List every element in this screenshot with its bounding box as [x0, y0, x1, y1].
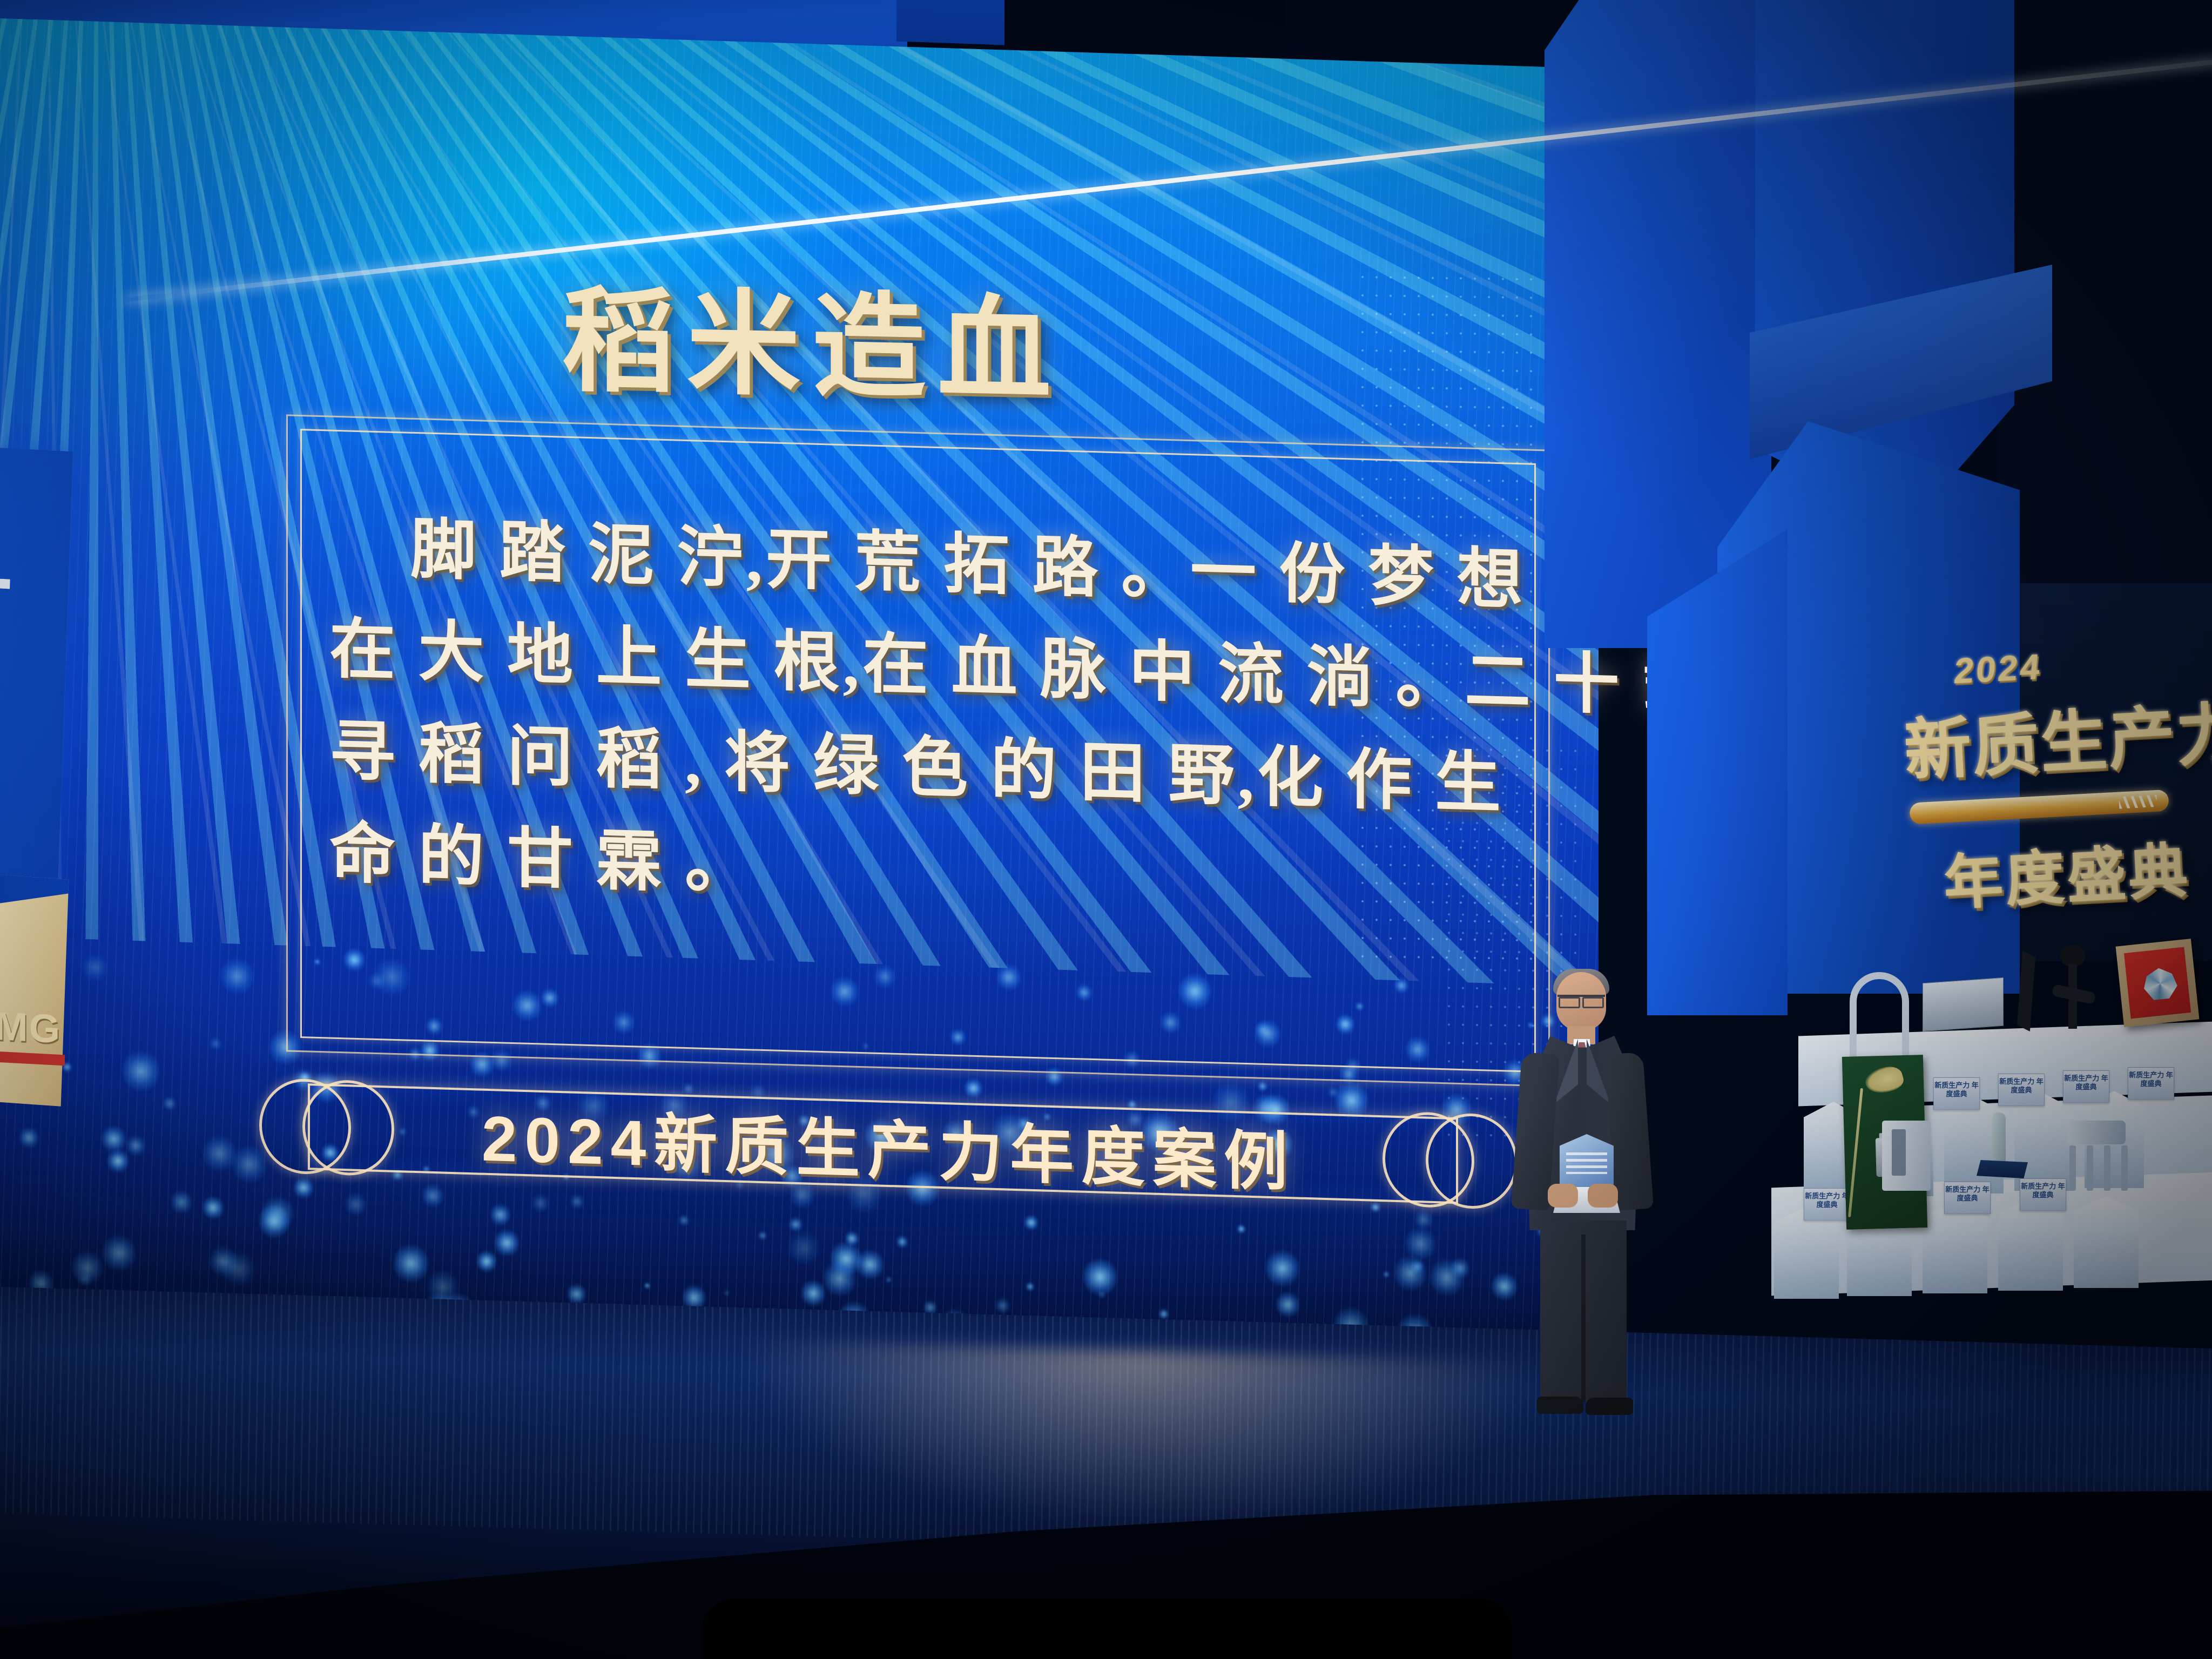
exhibit-plinth	[1998, 1199, 2063, 1291]
bokeh-particle	[896, 1235, 907, 1249]
bokeh-particle	[1405, 1224, 1435, 1263]
signage-main-title: 新质生产力	[1901, 678, 2212, 793]
bokeh-particle	[394, 1242, 428, 1285]
bokeh-particle	[477, 1249, 496, 1273]
equipment-box	[1923, 977, 2004, 1031]
hook-arc-fixture	[1850, 972, 1909, 1058]
trophy-engraving	[1566, 1152, 1607, 1174]
exhibit-tag: 新质生产力 年度盛典	[2128, 1067, 2174, 1100]
bokeh-particle	[1159, 1307, 1169, 1320]
robotic-arm-joint	[2060, 945, 2085, 967]
bokeh-particle	[490, 1202, 510, 1228]
exhibit-microscope	[1977, 1112, 2028, 1191]
quote-text-block: 脚 踏 泥 泞,开 荒 拓 路 。一 份 梦 想 在 大 地 上 生 根,在 血…	[329, 496, 1518, 938]
signage-year: 2024	[1952, 645, 2044, 691]
bokeh-particle	[788, 1228, 819, 1268]
gem-icon	[2142, 966, 2179, 1001]
gem-display-case	[2116, 939, 2200, 1027]
bokeh-particle	[1266, 1247, 1299, 1289]
broadcaster-logo: MG	[0, 1003, 61, 1052]
bokeh-particle	[1098, 1290, 1105, 1299]
bokeh-particle	[857, 1247, 884, 1282]
bokeh-particle	[1383, 1270, 1390, 1278]
bokeh-particle	[203, 1194, 224, 1221]
bokeh-particle	[72, 1248, 103, 1287]
robot-dog-leg	[2121, 1145, 2128, 1191]
stage-photo: 稻米造血 脚 踏 泥 泞,开 荒 拓 路 。一 份 梦 想 在 大 地 上 生 …	[0, 0, 2212, 1659]
bokeh-particle	[1430, 1256, 1464, 1299]
bokeh-particle	[107, 1148, 128, 1174]
left-gold-plinth	[0, 870, 69, 1106]
banner-label: 2024新质生产力年度案例	[243, 1085, 1534, 1204]
bokeh-particle	[679, 1213, 689, 1227]
bokeh-particle	[1276, 1290, 1299, 1320]
bokeh-particle	[126, 1134, 145, 1157]
bokeh-particle	[886, 1276, 892, 1284]
bokeh-particle	[1394, 1253, 1426, 1293]
hand-left	[1548, 1184, 1578, 1208]
bokeh-particle	[570, 1193, 584, 1210]
partial-glyph-icon	[0, 528, 12, 589]
bokeh-particle	[1258, 1080, 1267, 1092]
robot-dog-leg	[2069, 1145, 2076, 1191]
bokeh-particle	[123, 1048, 159, 1095]
robotic-arm-segment-1	[2017, 950, 2035, 1031]
bokeh-particle	[1026, 1282, 1034, 1292]
bokeh-particle	[831, 1239, 861, 1279]
bokeh-particle	[210, 1244, 237, 1279]
bokeh-particle	[1083, 1256, 1117, 1298]
award-recipient	[1507, 972, 1658, 1426]
bokeh-particle	[171, 1189, 192, 1216]
signage-divider-bar	[1909, 790, 2169, 825]
bokeh-particle	[758, 1230, 766, 1241]
glasses-icon	[1557, 995, 1605, 1003]
gem-case-lining	[2124, 947, 2191, 1019]
exhibit-plinth	[2074, 1196, 2139, 1288]
bokeh-particle	[1024, 1213, 1038, 1231]
bokeh-particle	[262, 1194, 293, 1234]
exhibit-tag: 新质生产力 年度盛典	[1933, 1077, 1980, 1110]
exhibit-tag: 新质生产力 年度盛典	[2063, 1070, 2109, 1103]
shoe-right	[1586, 1398, 1633, 1415]
robot-dog-leg	[2087, 1145, 2093, 1191]
led-headline: 稻米造血	[562, 248, 1063, 423]
exhibit-plinth	[1774, 1207, 1839, 1299]
bokeh-particle	[221, 955, 254, 997]
bokeh-particle	[203, 1132, 236, 1175]
exhibit-tag: 新质生产力 年度盛典	[1998, 1074, 2045, 1106]
rice-spike-icon	[1863, 1063, 1906, 1097]
bokeh-particle	[1451, 1256, 1469, 1280]
exhibit-robot-dog	[2058, 1121, 2139, 1191]
rice-stem	[1848, 1088, 1863, 1217]
bokeh-particle	[824, 1258, 855, 1299]
signage-subtitle: 年度盛典	[1941, 822, 2191, 921]
bokeh-particle	[724, 1289, 730, 1297]
bokeh-particle	[801, 1278, 825, 1308]
bokeh-particle	[1411, 1258, 1424, 1274]
bokeh-particle	[83, 952, 107, 983]
bokeh-particle	[163, 1095, 176, 1112]
bokeh-particle	[845, 1230, 859, 1248]
trousers	[1540, 1220, 1627, 1402]
exhibit-3d-printer	[1882, 1121, 1931, 1191]
bokeh-particle	[102, 1124, 125, 1155]
robot-dog-leg	[2104, 1145, 2110, 1191]
bokeh-particle	[995, 1297, 1010, 1315]
foreground-object	[702, 1599, 1512, 1659]
bokeh-particle	[345, 1191, 366, 1218]
event-signage: 2024 新质生产力 年度盛典	[1894, 638, 2210, 934]
exhibit-plinth	[1923, 1202, 1987, 1293]
bokeh-particle	[495, 1228, 519, 1259]
bokeh-particle	[78, 1270, 92, 1288]
bokeh-particle	[259, 1203, 289, 1241]
bokeh-particle	[222, 1248, 254, 1289]
bokeh-particle	[532, 1192, 549, 1214]
bokeh-particle	[210, 1036, 221, 1051]
bokeh-particle	[103, 1232, 136, 1274]
exhibit-tag: 新质生产力 年度盛典	[1804, 1188, 1850, 1220]
bokeh-particle	[789, 1216, 802, 1233]
bokeh-particle	[19, 1125, 38, 1149]
bokeh-particle	[1237, 1224, 1245, 1235]
overhead-screen-panel-right	[896, 0, 1004, 45]
hand-right	[1588, 1184, 1618, 1208]
shoe-left	[1537, 1397, 1583, 1414]
bokeh-particle	[644, 1282, 650, 1290]
